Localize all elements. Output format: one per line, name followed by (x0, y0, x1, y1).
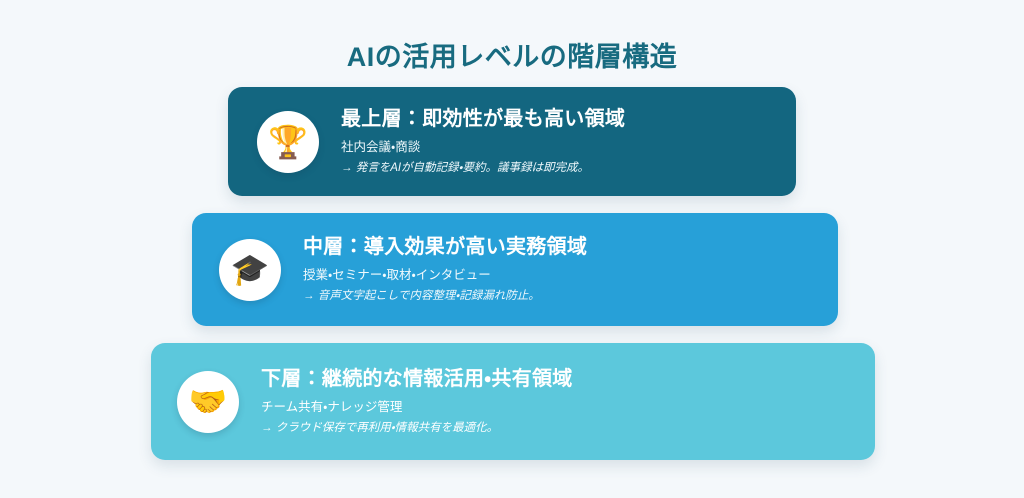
tier-text-block: 最上層：即効性が最も高い領域 社内会議・商談 → 発言をAIが自動記録・要約。議… (319, 107, 796, 176)
trophy-icon: 🏆 (257, 111, 319, 173)
handshake-icon: 🤝 (177, 371, 239, 433)
tier-subtitle: 授業・セミナー・取材・インタビュー (303, 267, 838, 283)
tier-note: → 発言をAIが自動記録・要約。議事録は即完成。 (341, 161, 796, 176)
pyramid-diagram: 🏆 最上層：即効性が最も高い領域 社内会議・商談 → 発言をAIが自動記録・要約… (0, 0, 1024, 498)
tier-text-block: 下層：継続的な情報活用・共有領域 チーム共有・ナレッジ管理 → クラウド保存で再… (239, 367, 875, 436)
infographic-root: AIの活用レベルの階層構造 🏆 最上層：即効性が最も高い領域 社内会議・商談 →… (0, 0, 1024, 498)
tier-card-middle: 🎓 中層：導入効果が高い実務領域 授業・セミナー・取材・インタビュー → 音声文… (192, 213, 838, 326)
tier-heading: 最上層：即効性が最も高い領域 (341, 107, 796, 132)
tier-card-bottom: 🤝 下層：継続的な情報活用・共有領域 チーム共有・ナレッジ管理 → クラウド保存… (151, 343, 875, 460)
tier-note: → 音声文字起こしで内容整理・記録漏れ防止。 (303, 289, 838, 304)
tier-subtitle: チーム共有・ナレッジ管理 (261, 399, 875, 415)
tier-note: → クラウド保存で再利用・情報共有を最適化。 (261, 421, 875, 436)
tier-subtitle: 社内会議・商談 (341, 139, 796, 155)
tier-heading: 中層：導入効果が高い実務領域 (303, 235, 838, 260)
tier-heading: 下層：継続的な情報活用・共有領域 (261, 367, 875, 392)
graduation-cap-icon: 🎓 (219, 239, 281, 301)
tier-text-block: 中層：導入効果が高い実務領域 授業・セミナー・取材・インタビュー → 音声文字起… (281, 235, 838, 304)
tier-card-top: 🏆 最上層：即効性が最も高い領域 社内会議・商談 → 発言をAIが自動記録・要約… (228, 87, 796, 196)
